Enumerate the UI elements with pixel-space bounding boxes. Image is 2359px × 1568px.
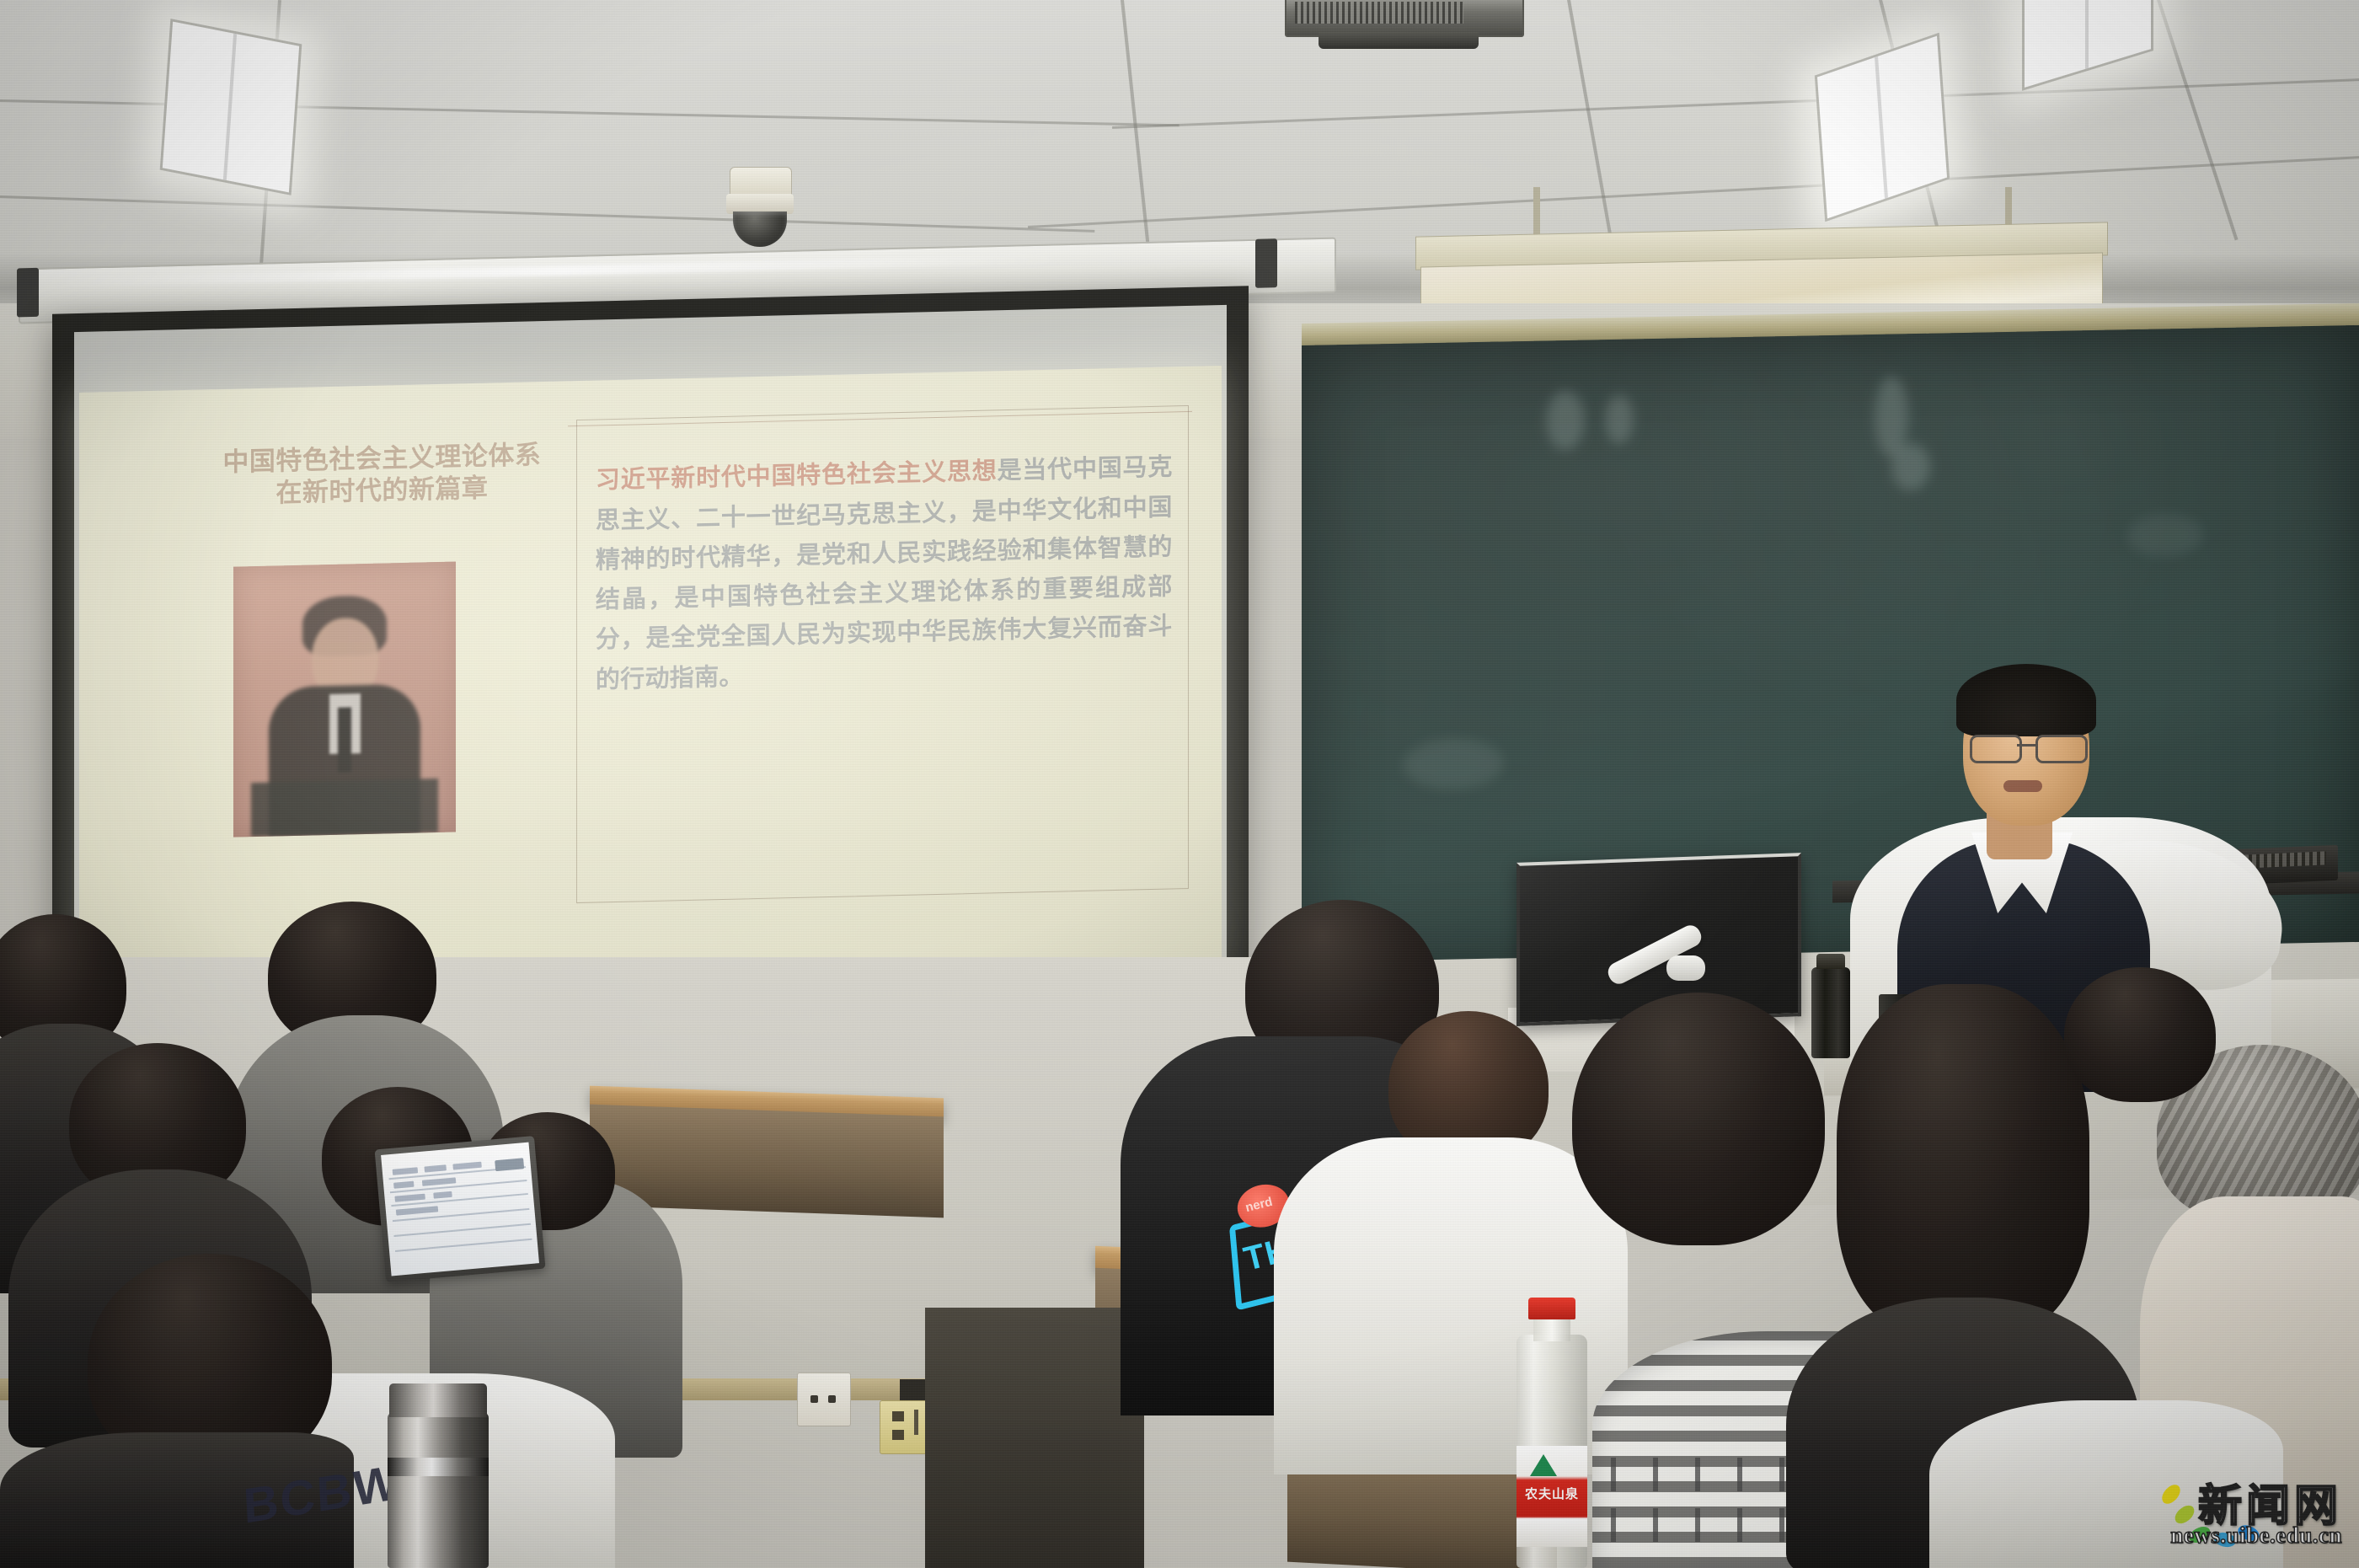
thermos-flask[interactable] [1811,967,1850,1058]
security-camera-icon [721,167,799,248]
logo-petal-icon [2158,1482,2185,1506]
student-head [2064,967,2216,1102]
watermark-url: news.uibe.edu.cn [2170,1523,2342,1549]
desk-shadow-block [925,1308,1144,1568]
lecture-hall-photo: 中国特色社会主义理论体系在新时代的新篇章 习近平新时代中国特色社会主义思想是当代… [0,0,2359,1568]
mountain-logo-icon [1530,1454,1557,1476]
screen-surface: 中国特色社会主义理论体系在新时代的新篇章 习近平新时代中国特色社会主义思想是当代… [74,305,1227,1063]
bottle-brand-text: 农夫山泉 [1518,1485,1586,1502]
slide-portrait-image [233,561,456,838]
student-laptop[interactable] [375,1136,548,1301]
thermos-flask[interactable] [388,1412,489,1568]
lecturer-mouth [2003,780,2042,792]
ceiling-light-panel [160,19,302,195]
projected-slide: 中国特色社会主义理论体系在新时代的新篇章 习近平新时代中国特色社会主义思想是当代… [79,366,1222,994]
lecturer-hair [1956,664,2096,736]
jacket-badge-text: nerd [1244,1195,1274,1215]
glasses-icon [1970,735,2084,760]
lectern-monitor[interactable] [1516,853,1795,1021]
watermark: 新闻网 news.uibe.edu.cn [2094,1465,2347,1560]
student-head [1837,984,2089,1338]
student-head [1572,993,1825,1245]
ceiling-projector [1285,0,1521,51]
water-bottle[interactable]: 农夫山泉 [1508,1298,1596,1568]
wall-outlet[interactable] [797,1373,851,1426]
bottle-cap [1528,1298,1575,1319]
slide-title: 中国特色社会主义理论体系在新时代的新篇章 [211,439,554,511]
slide-body-highlight: 习近平新时代中国特色社会主义思想 [596,458,998,495]
slide-body-text: 习近平新时代中国特色社会主义思想是当代中国马克思主义、二十一世纪马克思主义，是中… [596,448,1173,701]
